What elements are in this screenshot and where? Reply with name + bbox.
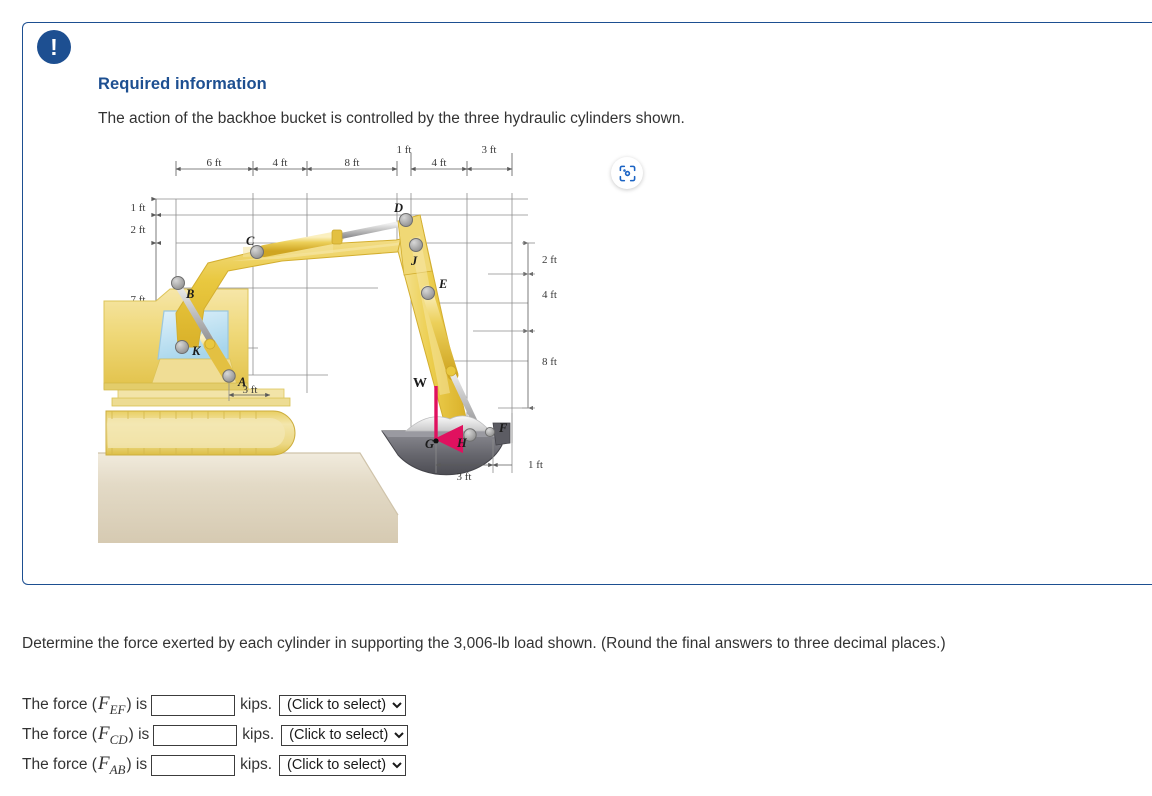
label-C: C [246, 234, 255, 248]
row-suffix-cd: ) is [129, 726, 150, 744]
row-prefix-cd: The force ( [22, 726, 97, 744]
required-information-callout: ! Required information The action of the… [22, 22, 1152, 585]
label-J: J [410, 254, 418, 268]
label-F: F [498, 421, 508, 435]
exclamation-icon: ! [37, 30, 71, 64]
force-symbol-cd: FCD [97, 723, 129, 748]
dim-h-4: 4 ft [432, 157, 447, 169]
row-prefix-ab: The force ( [22, 756, 97, 774]
force-subscript-ab: AB [110, 762, 126, 777]
answer-row-ef: The force ( FEF ) is kips. (Click to sel… [22, 693, 406, 718]
dim-h-5: 3 ft [482, 144, 497, 156]
dim-v-left-0: 1 ft [131, 202, 146, 214]
backhoe-figure: 6 ft 4 ft 8 ft 1 ft 4 ft 3 ft 1 ft [98, 143, 718, 543]
unit-select-ef[interactable]: (Click to select) [279, 695, 406, 716]
row-suffix-ef: ) is [126, 696, 147, 714]
dim-h-2: 8 ft [345, 157, 360, 169]
answer-input-ab[interactable] [151, 755, 235, 776]
dim-bottom-0: 3 ft [457, 471, 472, 483]
dim-h-0: 6 ft [207, 157, 222, 169]
row-suffix-ab: ) is [126, 756, 147, 774]
backhoe-diagram-svg: 6 ft 4 ft 8 ft 1 ft 4 ft 3 ft 1 ft [98, 143, 718, 543]
dim-bottom-1: 1 ft [528, 459, 543, 471]
label-B: B [185, 287, 194, 301]
dim-v-left-1: 2 ft [131, 224, 146, 236]
label-G: G [425, 437, 434, 451]
force-subscript-cd: CD [110, 732, 128, 747]
answer-row-ab: The force ( FAB ) is kips. (Click to sel… [22, 753, 406, 778]
force-symbol-ab: FAB [97, 753, 127, 778]
unit-select-cd[interactable]: (Click to select) [281, 725, 408, 746]
scan-zoom-glyph [618, 164, 637, 183]
ground-bank [98, 453, 398, 543]
excavator-tracks [106, 389, 295, 455]
answer-input-ef[interactable] [151, 695, 235, 716]
scan-zoom-icon[interactable] [611, 157, 643, 189]
force-subscript-ef: EF [110, 702, 126, 717]
dim-v-right-2: 8 ft [542, 356, 557, 368]
unit-label-cd: kips. [242, 726, 274, 744]
label-H: H [456, 436, 468, 450]
unit-label-ef: kips. [240, 696, 272, 714]
answer-row-cd: The force ( FCD ) is kips. (Click to sel… [22, 723, 408, 748]
horizontal-dimension-chain: 6 ft 4 ft 8 ft 1 ft 4 ft 3 ft [176, 144, 512, 176]
answer-input-cd[interactable] [153, 725, 237, 746]
dim-v-right-1: 4 ft [542, 289, 557, 301]
load-label-w: W [413, 376, 427, 391]
label-E: E [438, 277, 447, 291]
dim-h-1: 4 ft [273, 157, 288, 169]
right-vertical-dimensions: 2 ft 4 ft 8 ft [473, 243, 557, 408]
unit-select-ab[interactable]: (Click to select) [279, 755, 406, 776]
callout-title: Required information [98, 75, 267, 94]
unit-label-ab: kips. [240, 756, 272, 774]
question-prompt: Determine the force exerted by each cyli… [22, 633, 1132, 654]
bucket [382, 416, 510, 475]
row-prefix-ef: The force ( [22, 696, 97, 714]
force-symbol-ef: FEF [97, 693, 127, 718]
callout-body-text: The action of the backhoe bucket is cont… [98, 110, 685, 128]
dim-base-3ft: 3 ft [243, 384, 258, 396]
label-D: D [393, 201, 403, 215]
dim-v-right-0: 2 ft [542, 254, 557, 266]
dim-h-3: 1 ft [397, 144, 412, 156]
